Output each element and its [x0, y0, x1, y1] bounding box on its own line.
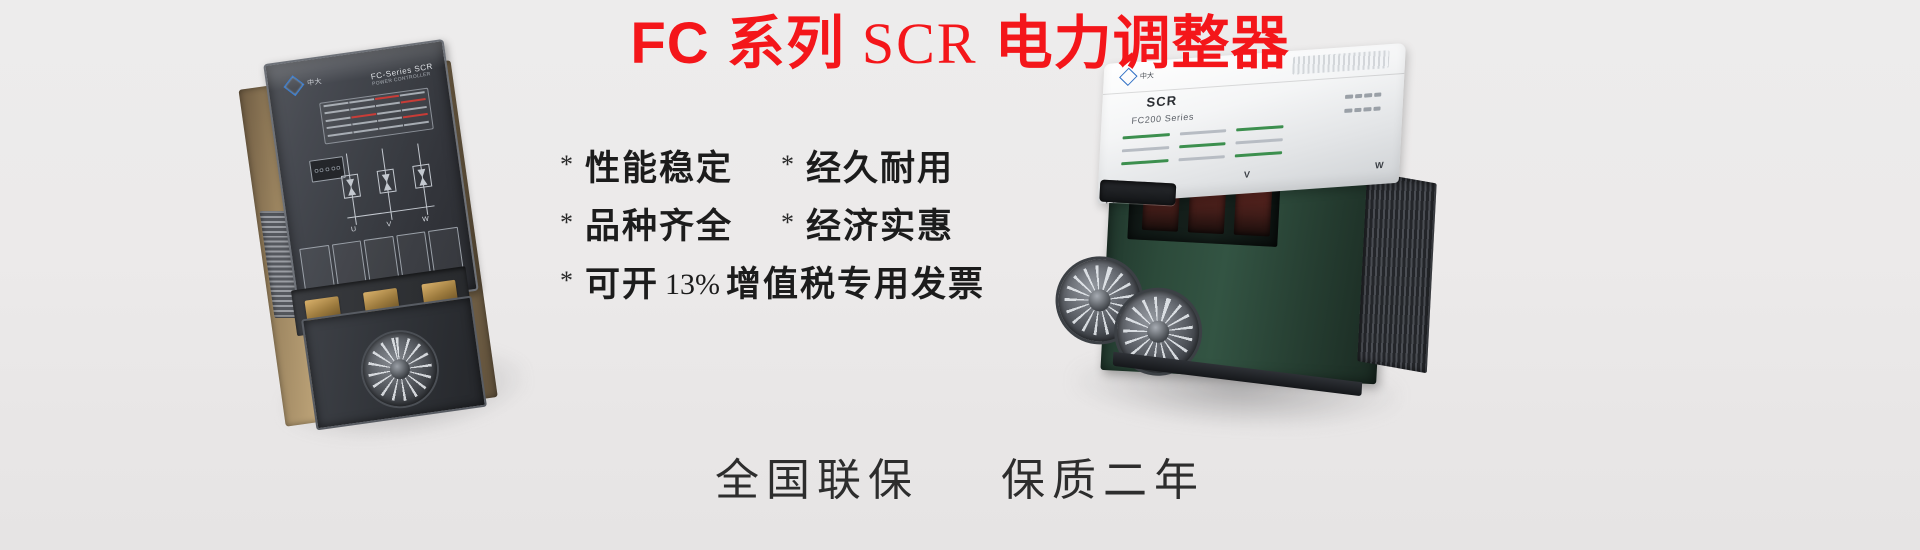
- svg-text:V: V: [386, 221, 392, 229]
- spec-cell: [377, 109, 402, 114]
- dip-dot: [1344, 108, 1352, 113]
- invoice-text-after: 增值税专用发票: [726, 265, 985, 305]
- dip-switch-dot: [325, 167, 330, 172]
- dip-dot: [1345, 94, 1353, 99]
- invoice-text-before: 可开: [585, 265, 659, 305]
- headline-product-cn: 电力调整器: [995, 9, 1290, 77]
- promo-banner: 中大 FC-Series SCR POWER CONTROLLER: [0, 0, 1920, 550]
- bullet-star-icon: *: [560, 152, 573, 178]
- feature-label: 经久耐用: [806, 149, 954, 189]
- spec-cell: [401, 98, 426, 103]
- spec-cell: [378, 117, 403, 122]
- feature-label: 经济实惠: [806, 207, 954, 247]
- dip-dot: [1363, 107, 1371, 112]
- dip-dot: [1354, 108, 1362, 113]
- bullet-star-icon: *: [560, 268, 573, 294]
- spec-cell: [404, 120, 429, 125]
- product-left-circuit-diagram: U V W: [336, 134, 457, 232]
- dip-switch-dot: [331, 166, 336, 171]
- indicator-led: [1123, 133, 1170, 139]
- spec-cell: [400, 91, 425, 96]
- product-right-heatsink: [1357, 171, 1436, 373]
- spec-cell: [351, 113, 376, 118]
- product-left-spec-table: [319, 88, 434, 145]
- product-right-title: SCR: [1146, 93, 1177, 110]
- product-left-lower-housing: [301, 296, 487, 431]
- spec-cell: [375, 102, 400, 107]
- feature-row: * 品种齐全 * 经济实惠: [560, 198, 1240, 256]
- spec-cell: [403, 113, 428, 118]
- indicator-led: [1236, 138, 1283, 144]
- spec-cell: [327, 124, 352, 129]
- svg-text:W: W: [422, 216, 430, 224]
- spec-cell: [323, 102, 348, 107]
- spec-cell: [352, 120, 377, 125]
- bullet-star-icon: *: [781, 152, 794, 178]
- headline-scr: SCR: [862, 11, 978, 76]
- feature-list: * 性能稳定 * 经久耐用 * 品种齐全 * 经济实惠 * 可开 13% 增值税…: [560, 140, 1240, 314]
- invoice-percent: 13%: [659, 265, 726, 305]
- dip-dot: [1355, 94, 1363, 99]
- feature-row: * 性能稳定 * 经久耐用: [560, 140, 1240, 198]
- bullet-star-icon: *: [781, 210, 794, 236]
- dip-dot: [1364, 93, 1372, 98]
- indicator-led: [1235, 151, 1282, 157]
- dip-switch-dot: [320, 168, 325, 173]
- product-image-left: 中大 FC-Series SCR POWER CONTROLLER: [222, 30, 565, 466]
- dip-switch-dot: [314, 169, 319, 174]
- phase-label-v: V: [1244, 169, 1251, 179]
- phase-label-w: W: [1375, 160, 1384, 171]
- spec-cell: [326, 116, 351, 121]
- banner-tagline: 全国联保 保质二年: [0, 455, 1920, 507]
- product-right-model: FC200 Series: [1131, 111, 1194, 125]
- headline-series-cn: 系列: [727, 9, 845, 77]
- spec-cell: [328, 131, 353, 136]
- bullet-star-icon: *: [560, 210, 573, 236]
- tagline-part-1: 全国联保: [715, 455, 919, 506]
- cooling-fan-icon: [358, 327, 442, 411]
- invoice-row: * 可开 13% 增值税专用发票: [560, 256, 1240, 314]
- spec-cell: [379, 124, 404, 129]
- dip-dot: [1374, 92, 1382, 97]
- product-right-dip-block: [1344, 92, 1382, 120]
- banner-headline: FC 系列 SCR 电力调整器: [0, 10, 1920, 77]
- indicator-led: [1179, 129, 1226, 135]
- svg-text:U: U: [351, 226, 357, 232]
- spec-cell: [402, 106, 427, 111]
- feature-label: 品种齐全: [585, 207, 733, 247]
- spec-cell: [349, 98, 374, 103]
- feature-label: 性能稳定: [585, 149, 733, 189]
- headline-fc: FC: [630, 11, 709, 76]
- tagline-part-2: 保质二年: [1001, 455, 1205, 506]
- spec-cell: [350, 106, 375, 111]
- spec-cell: [374, 95, 399, 100]
- spec-cell: [353, 128, 378, 133]
- indicator-led: [1236, 125, 1283, 131]
- dip-dot: [1373, 106, 1381, 111]
- spec-cell: [324, 109, 349, 114]
- brand-name-label: 中大: [307, 76, 323, 88]
